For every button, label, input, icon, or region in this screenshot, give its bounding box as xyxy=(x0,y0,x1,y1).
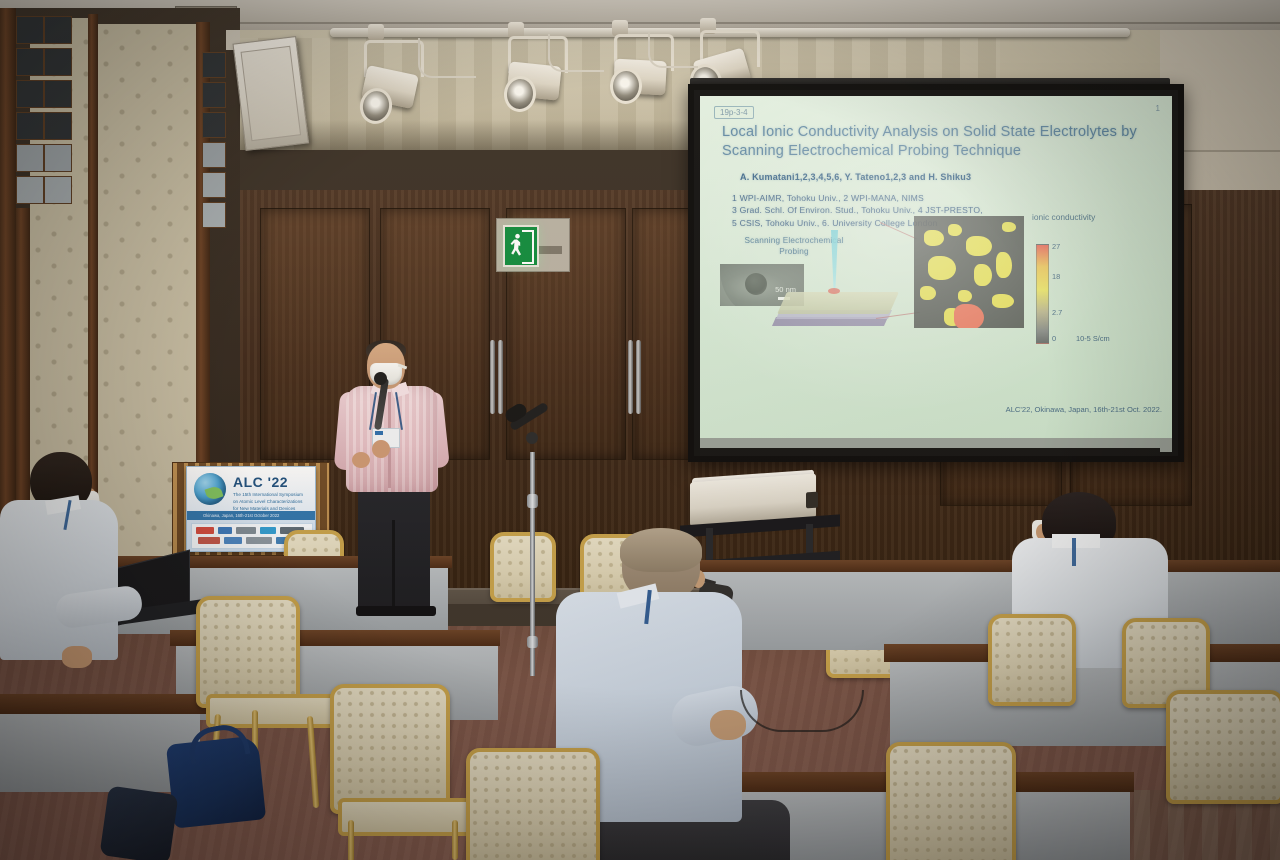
banner-ribbon: Okinawa, Japan, 16th-21st October 2022 xyxy=(187,511,315,520)
emergency-exit-icon xyxy=(503,225,539,267)
track-mount xyxy=(368,24,384,40)
colorbar-tick: 0 xyxy=(1052,334,1056,343)
sample-top-layer xyxy=(777,292,899,314)
lanyard-strap xyxy=(1072,538,1076,566)
slide-footer: ALC'22, Okinawa, Japan, 16th-21st Oct. 2… xyxy=(1006,405,1162,414)
table-top xyxy=(696,560,1280,572)
door-handle[interactable] xyxy=(628,340,633,414)
banner-title: ALC '22 xyxy=(233,474,288,490)
slide-session-tag: 19p-3-4 xyxy=(714,106,754,119)
partition-window xyxy=(202,112,226,138)
partition-window xyxy=(16,80,44,108)
wall-speaker xyxy=(232,36,309,151)
partition-window xyxy=(202,172,226,198)
screen-bottom-bar xyxy=(700,448,1160,456)
partition-window xyxy=(16,176,44,204)
table-top xyxy=(0,694,206,714)
shirt-collar xyxy=(1052,534,1100,548)
bag xyxy=(99,785,178,860)
partition-window xyxy=(202,82,226,108)
light-cable xyxy=(648,32,698,68)
colorbar-gradient xyxy=(1036,244,1049,344)
presenter-leg-split xyxy=(392,520,395,612)
slide-authors: A. Kumatani1,2,3,4,5,6, Y. Tateno1,2,3 a… xyxy=(740,172,971,182)
conference-room-photo: 19p-3-4 1 Local Ionic Conductivity Analy… xyxy=(0,0,1280,860)
conductivity-map xyxy=(914,216,1024,328)
colorbar-unit: 10-5 S/cm xyxy=(1076,334,1110,343)
light-cable xyxy=(548,34,604,72)
running-man-glyph xyxy=(510,233,524,259)
light-cable xyxy=(418,38,476,78)
partition-window xyxy=(16,16,44,44)
presenter-hand-right xyxy=(372,440,390,458)
nanopipette-probe xyxy=(831,230,838,292)
microphone-grille[interactable] xyxy=(374,372,387,385)
projection-screen: 19p-3-4 1 Local Ionic Conductivity Analy… xyxy=(688,84,1184,462)
slide-page-number: 1 xyxy=(1156,104,1160,113)
partition-window xyxy=(16,144,44,172)
partition-window xyxy=(16,112,44,140)
presenter-shoes xyxy=(356,606,436,616)
speaker-grille xyxy=(241,46,302,141)
attendee-hand xyxy=(710,710,746,740)
colorbar-tick: 2.7 xyxy=(1052,308,1062,317)
partition-window xyxy=(44,80,72,108)
sample-contact-spot xyxy=(828,288,840,294)
banner-subtitle: The 15th International Symposium on Atom… xyxy=(233,492,309,513)
slide-title: Local Ionic Conductivity Analysis on Sol… xyxy=(722,123,1152,160)
globe-icon xyxy=(194,473,226,505)
attendee-hand xyxy=(62,646,92,668)
exit-sign-plate xyxy=(536,246,562,254)
partition-window xyxy=(44,112,72,140)
badge-stripe xyxy=(375,431,383,435)
partition-window xyxy=(202,142,226,168)
globe-leaf xyxy=(205,485,224,501)
colorbar-tick: 18 xyxy=(1052,272,1060,281)
partition-window xyxy=(44,16,72,44)
door-handle[interactable] xyxy=(490,340,495,414)
colorbar-tick: 27 xyxy=(1052,242,1060,251)
banner-ribbon-text: Okinawa, Japan, 16th-21st October 2022 xyxy=(203,513,279,518)
projector-lens xyxy=(806,492,818,509)
partition-window xyxy=(44,144,72,172)
partition-window xyxy=(202,52,226,78)
mic-stand-clutch[interactable] xyxy=(527,494,538,508)
door-handle[interactable] xyxy=(636,340,641,414)
partition-window xyxy=(44,48,72,76)
presenter-hand-left xyxy=(352,452,370,468)
upper-dark-band xyxy=(240,150,700,190)
partition-window xyxy=(16,48,44,76)
colorbar-title: ionic conductivity xyxy=(1032,212,1102,223)
door-handle[interactable] xyxy=(498,340,503,414)
mic-stand-joint[interactable] xyxy=(526,432,538,444)
attendee-hair xyxy=(620,528,702,572)
slide-surface: 19p-3-4 1 Local Ionic Conductivity Analy… xyxy=(700,96,1172,440)
partition-window xyxy=(202,202,226,228)
attendee-shirt xyxy=(0,500,118,660)
partition-window xyxy=(44,176,72,204)
mic-stand-clutch[interactable] xyxy=(527,636,538,648)
